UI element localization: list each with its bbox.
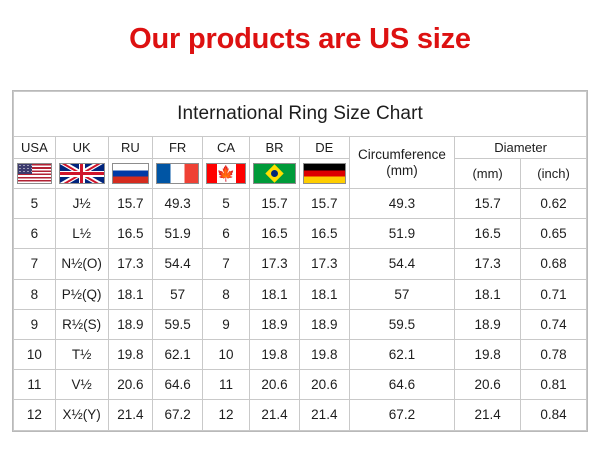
uk-cross-red-horizontal — [60, 172, 104, 175]
page-headline: Our products are US size — [0, 22, 600, 56]
cell-circumference: 51.9 — [349, 219, 454, 249]
cell-ru: 17.3 — [108, 249, 153, 279]
cell-ru: 19.8 — [108, 339, 153, 369]
col-header-diameter-inch: (inch) — [521, 159, 587, 189]
table-row: 10 T½ 19.8 62.1 10 19.8 19.8 62.1 19.8 0… — [14, 339, 587, 369]
cell-de: 18.9 — [299, 309, 349, 339]
flag-russia-icon — [112, 163, 150, 184]
cell-ru: 20.6 — [108, 370, 153, 400]
cell-br: 18.1 — [250, 279, 300, 309]
canada-bar-right — [236, 164, 245, 183]
col-header-diameter-mm: (mm) — [455, 159, 521, 189]
cell-circumference: 49.3 — [349, 189, 454, 219]
cell-ru: 21.4 — [108, 400, 153, 430]
cell-br: 18.9 — [250, 309, 300, 339]
cell-diameter-inch: 0.71 — [521, 279, 587, 309]
cell-fr: 62.1 — [153, 339, 203, 369]
cell-diameter-inch: 0.78 — [521, 339, 587, 369]
cell-de: 21.4 — [299, 400, 349, 430]
cell-uk: R½(S) — [55, 309, 108, 339]
flag-cell-usa — [14, 159, 56, 189]
cell-ca: 6 — [203, 219, 250, 249]
cell-br: 16.5 — [250, 219, 300, 249]
cell-diameter-inch: 0.74 — [521, 309, 587, 339]
cell-fr: 64.6 — [153, 370, 203, 400]
cell-uk: P½(Q) — [55, 279, 108, 309]
table-row: 9 R½(S) 18.9 59.5 9 18.9 18.9 59.5 18.9 … — [14, 309, 587, 339]
cell-br: 21.4 — [250, 400, 300, 430]
cell-diameter-mm: 20.6 — [455, 370, 521, 400]
cell-usa: 6 — [14, 219, 56, 249]
cell-fr: 51.9 — [153, 219, 203, 249]
cell-diameter-inch: 0.62 — [521, 189, 587, 219]
flag-cell-uk — [55, 159, 108, 189]
cell-br: 19.8 — [250, 339, 300, 369]
cell-de: 16.5 — [299, 219, 349, 249]
col-header-circumference: Circumference (mm) — [349, 137, 454, 189]
cell-circumference: 54.4 — [349, 249, 454, 279]
cell-br: 20.6 — [250, 370, 300, 400]
canada-bar-left — [207, 164, 216, 183]
cell-fr: 59.5 — [153, 309, 203, 339]
flag-cell-fr — [153, 159, 203, 189]
page-root: Our products are US size International R… — [0, 0, 600, 451]
cell-uk: V½ — [55, 370, 108, 400]
table-header-row-flags: 🍁 (mm) (inch) — [14, 159, 587, 189]
cell-fr: 54.4 — [153, 249, 203, 279]
circumference-label-line2: (mm) — [350, 163, 454, 179]
table-row: 5 J½ 15.7 49.3 5 15.7 15.7 49.3 15.7 0.6… — [14, 189, 587, 219]
flag-canada-icon: 🍁 — [206, 163, 246, 184]
maple-leaf-icon: 🍁 — [217, 166, 236, 181]
cell-ru: 18.1 — [108, 279, 153, 309]
cell-ca: 7 — [203, 249, 250, 279]
cell-uk: T½ — [55, 339, 108, 369]
cell-ca: 12 — [203, 400, 250, 430]
cell-de: 15.7 — [299, 189, 349, 219]
cell-diameter-mm: 19.8 — [455, 339, 521, 369]
cell-ca: 8 — [203, 279, 250, 309]
cell-ca: 10 — [203, 339, 250, 369]
col-header-ru: RU — [108, 137, 153, 159]
col-header-br: BR — [250, 137, 300, 159]
cell-uk: L½ — [55, 219, 108, 249]
cell-br: 15.7 — [250, 189, 300, 219]
cell-de: 18.1 — [299, 279, 349, 309]
cell-diameter-inch: 0.68 — [521, 249, 587, 279]
cell-ru: 15.7 — [108, 189, 153, 219]
table-row: 12 X½(Y) 21.4 67.2 12 21.4 21.4 67.2 21.… — [14, 400, 587, 430]
cell-diameter-inch: 0.84 — [521, 400, 587, 430]
table-row: 6 L½ 16.5 51.9 6 16.5 16.5 51.9 16.5 0.6… — [14, 219, 587, 249]
col-header-usa: USA — [14, 137, 56, 159]
cell-ru: 16.5 — [108, 219, 153, 249]
ring-size-chart-container: International Ring Size Chart USA UK RU … — [12, 90, 588, 432]
cell-ru: 18.9 — [108, 309, 153, 339]
table-title-row: International Ring Size Chart — [14, 92, 587, 137]
table-row: 8 P½(Q) 18.1 57 8 18.1 18.1 57 18.1 0.71 — [14, 279, 587, 309]
cell-diameter-mm: 18.9 — [455, 309, 521, 339]
cell-usa: 12 — [14, 400, 56, 430]
table-row: 11 V½ 20.6 64.6 11 20.6 20.6 64.6 20.6 0… — [14, 370, 587, 400]
cell-uk: N½(O) — [55, 249, 108, 279]
flag-cell-br — [250, 159, 300, 189]
cell-usa: 7 — [14, 249, 56, 279]
flag-cell-ca: 🍁 — [203, 159, 250, 189]
cell-usa: 10 — [14, 339, 56, 369]
cell-diameter-mm: 17.3 — [455, 249, 521, 279]
cell-diameter-mm: 16.5 — [455, 219, 521, 249]
cell-circumference: 62.1 — [349, 339, 454, 369]
cell-usa: 5 — [14, 189, 56, 219]
cell-ca: 5 — [203, 189, 250, 219]
cell-diameter-inch: 0.81 — [521, 370, 587, 400]
table-row: 7 N½(O) 17.3 54.4 7 17.3 17.3 54.4 17.3 … — [14, 249, 587, 279]
cell-uk: X½(Y) — [55, 400, 108, 430]
cell-de: 17.3 — [299, 249, 349, 279]
cell-usa: 8 — [14, 279, 56, 309]
cell-fr: 49.3 — [153, 189, 203, 219]
ring-size-table: International Ring Size Chart USA UK RU … — [13, 91, 587, 431]
cell-usa: 9 — [14, 309, 56, 339]
cell-usa: 11 — [14, 370, 56, 400]
circumference-label-line1: Circumference — [350, 147, 454, 163]
cell-diameter-inch: 0.65 — [521, 219, 587, 249]
flag-france-icon — [156, 163, 199, 184]
cell-circumference: 64.6 — [349, 370, 454, 400]
col-header-de: DE — [299, 137, 349, 159]
cell-circumference: 59.5 — [349, 309, 454, 339]
cell-diameter-mm: 18.1 — [455, 279, 521, 309]
usa-canton — [18, 164, 32, 174]
col-header-diameter: Diameter — [455, 137, 587, 159]
col-header-fr: FR — [153, 137, 203, 159]
flag-germany-icon — [303, 163, 346, 184]
table-header-row-labels: USA UK RU FR CA BR DE Circumference (mm)… — [14, 137, 587, 159]
col-header-uk: UK — [55, 137, 108, 159]
flag-cell-de — [299, 159, 349, 189]
flag-usa-icon — [17, 163, 52, 184]
cell-ca: 9 — [203, 309, 250, 339]
flag-cell-ru — [108, 159, 153, 189]
cell-fr: 57 — [153, 279, 203, 309]
cell-de: 20.6 — [299, 370, 349, 400]
flag-brazil-icon — [253, 163, 296, 184]
brazil-globe — [271, 170, 278, 177]
table-title: International Ring Size Chart — [14, 92, 587, 137]
cell-br: 17.3 — [250, 249, 300, 279]
flag-uk-icon — [59, 163, 105, 184]
cell-fr: 67.2 — [153, 400, 203, 430]
cell-ca: 11 — [203, 370, 250, 400]
cell-circumference: 67.2 — [349, 400, 454, 430]
cell-diameter-mm: 15.7 — [455, 189, 521, 219]
cell-de: 19.8 — [299, 339, 349, 369]
cell-uk: J½ — [55, 189, 108, 219]
cell-circumference: 57 — [349, 279, 454, 309]
cell-diameter-mm: 21.4 — [455, 400, 521, 430]
col-header-ca: CA — [203, 137, 250, 159]
